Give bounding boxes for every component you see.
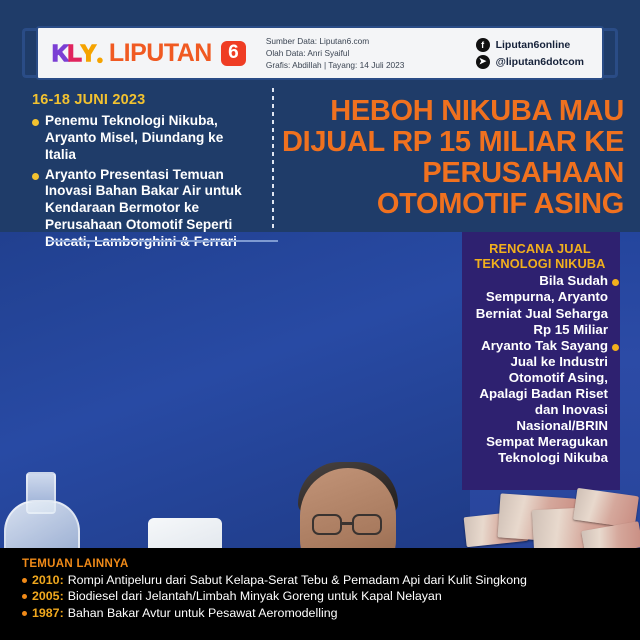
timeline-bullet-text: Aryanto Presentasi Temuan Inovasi Bahan … [45,167,250,251]
infographic-root: RENCANA JUAL TEKNOLOGI NIKUBA Bila Sudah… [0,0,640,640]
credit-line: Grafis: Abdillah | Tayang: 14 Juli 2023 [266,59,405,71]
bullet-dot-icon [22,594,27,599]
finding-row: 1987:Bahan Bakar Avtur untuk Pesawat Aer… [22,605,626,621]
bullet-dot-icon [22,578,27,583]
glasses-bridge [342,522,354,525]
social-facebook[interactable]: f Liputan6online [476,38,584,52]
bullet-dot-icon [612,344,619,351]
other-findings-title: TEMUAN LAINNYA [22,558,626,570]
header-bar: KLY● LIPUTAN 6 Sumber Data: Liputan6.com… [22,26,618,80]
other-findings-section: TEMUAN LAINNYA 2010:Rompi Antipeluru dar… [0,548,640,640]
jerrycan-shape [148,518,222,548]
credits-block: Sumber Data: Liputan6.com Olah Data: Anr… [266,35,405,71]
finding-row: 2005:Biodiesel dari Jelantah/Limbah Miny… [22,588,626,604]
date-label: 16-18 JUNI 2023 [32,92,250,108]
timeline-bullet: Penemu Teknologi Nikuba, Aryanto Misel, … [32,113,250,164]
kly-logo-icon: KLY● [52,40,103,67]
sale-plan-item: Aryanto Tak Sayang Jual ke Industri Otom… [472,338,608,467]
bullet-dot-icon [22,611,27,616]
twitter-handle: @liputan6dotcom [496,56,584,68]
sale-plan-title: RENCANA JUAL TEKNOLOGI NIKUBA [472,242,608,271]
sale-plan-panel: RENCANA JUAL TEKNOLOGI NIKUBA Bila Sudah… [462,232,620,490]
timeline-column: 16-18 JUNI 2023 Penemu Teknologi Nikuba,… [32,92,250,254]
bullet-dot-icon [612,279,619,286]
page-title: HEBOH NIKUBA MAU DIJUAL RP 15 MILIAR KE … [276,96,624,220]
portrait-photo [0,232,470,548]
glasses-right-lens [352,514,382,535]
facebook-handle: Liputan6online [496,39,571,51]
bracket-right-decoration [602,28,618,78]
timeline-bullet: Aryanto Presentasi Temuan Inovasi Bahan … [32,167,250,251]
header-card: KLY● LIPUTAN 6 Sumber Data: Liputan6.com… [36,26,604,80]
timeline-bullet-text: Penemu Teknologi Nikuba, Aryanto Misel, … [45,113,250,164]
liputan-wordmark: LIPUTAN [109,39,212,68]
sale-plan-body: Bila Sudah Sempurna, Aryanto Berniat Jua… [472,273,608,466]
finding-year: 2005: [32,589,64,603]
social-links: f Liputan6online ➤ @liputan6dotcom [476,38,602,69]
brand-logo[interactable]: KLY● LIPUTAN 6 [38,39,246,68]
finding-text: Rompi Antipeluru dari Sabut Kelapa-Serat… [68,573,527,587]
sale-plan-item-text: Aryanto Tak Sayang Jual ke Industri Otom… [479,338,608,466]
sale-plan-item-text: Bila Sudah Sempurna, Aryanto Berniat Jua… [476,273,608,336]
bullet-dot-icon [32,173,39,180]
twitter-icon: ➤ [476,55,490,69]
facebook-icon: f [476,38,490,52]
credit-line: Sumber Data: Liputan6.com [266,35,405,47]
finding-text: Bahan Bakar Avtur untuk Pesawat Aeromode… [68,606,338,620]
social-twitter[interactable]: ➤ @liputan6dotcom [476,55,584,69]
finding-year: 2010: [32,573,64,587]
sale-plan-item: Bila Sudah Sempurna, Aryanto Berniat Jua… [472,273,608,337]
credit-line: Olah Data: Anri Syaiful [266,47,405,59]
vertical-dotted-divider [272,88,274,232]
six-badge-icon: 6 [221,41,246,66]
finding-year: 1987: [32,606,64,620]
flask-shape [4,500,80,548]
bullet-dot-icon [32,119,39,126]
glasses-left-lens [312,514,342,535]
finding-text: Biodiesel dari Jelantah/Limbah Minyak Go… [68,589,442,603]
money-photo [455,478,640,558]
finding-row: 2010:Rompi Antipeluru dari Sabut Kelapa-… [22,572,626,588]
horizontal-divider [48,240,278,242]
